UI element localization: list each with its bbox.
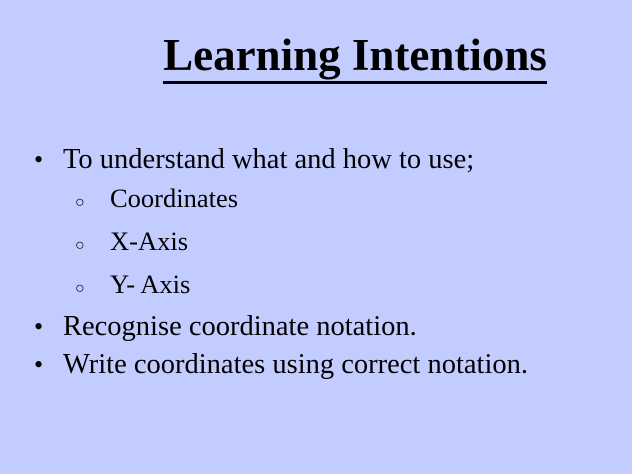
list-item: ○ Coordinates	[34, 179, 604, 222]
list-item-label: To understand what and how to use;	[63, 141, 604, 179]
list-item: • Recognise coordinate notation.	[34, 308, 604, 346]
list-item-label: Write coordinates using correct notation…	[63, 346, 604, 384]
list-item-label: Y- Axis	[110, 265, 604, 303]
list-item-label: X-Axis	[110, 222, 604, 260]
filled-round-bullet-icon: •	[34, 141, 63, 179]
list-item-label: Recognise coordinate notation.	[63, 308, 604, 346]
filled-round-bullet-icon: •	[34, 346, 63, 384]
list-item-label: Coordinates	[110, 179, 604, 217]
list-item: • Write coordinates using correct notati…	[34, 346, 604, 384]
page-title: Learning Intentions	[163, 32, 547, 84]
bullet-list: • To understand what and how to use; ○ C…	[34, 141, 604, 384]
filled-round-bullet-icon: •	[34, 308, 63, 346]
list-item: ○ Y- Axis	[34, 265, 604, 308]
hollow-round-bullet-icon: ○	[75, 227, 110, 265]
slide-title-container: Learning Intentions	[0, 32, 632, 84]
presentation-slide: Learning Intentions • To understand what…	[0, 0, 632, 474]
hollow-round-bullet-icon: ○	[75, 184, 110, 222]
hollow-round-bullet-icon: ○	[75, 270, 110, 308]
list-item: ○ X-Axis	[34, 222, 604, 265]
list-item: • To understand what and how to use;	[34, 141, 604, 179]
